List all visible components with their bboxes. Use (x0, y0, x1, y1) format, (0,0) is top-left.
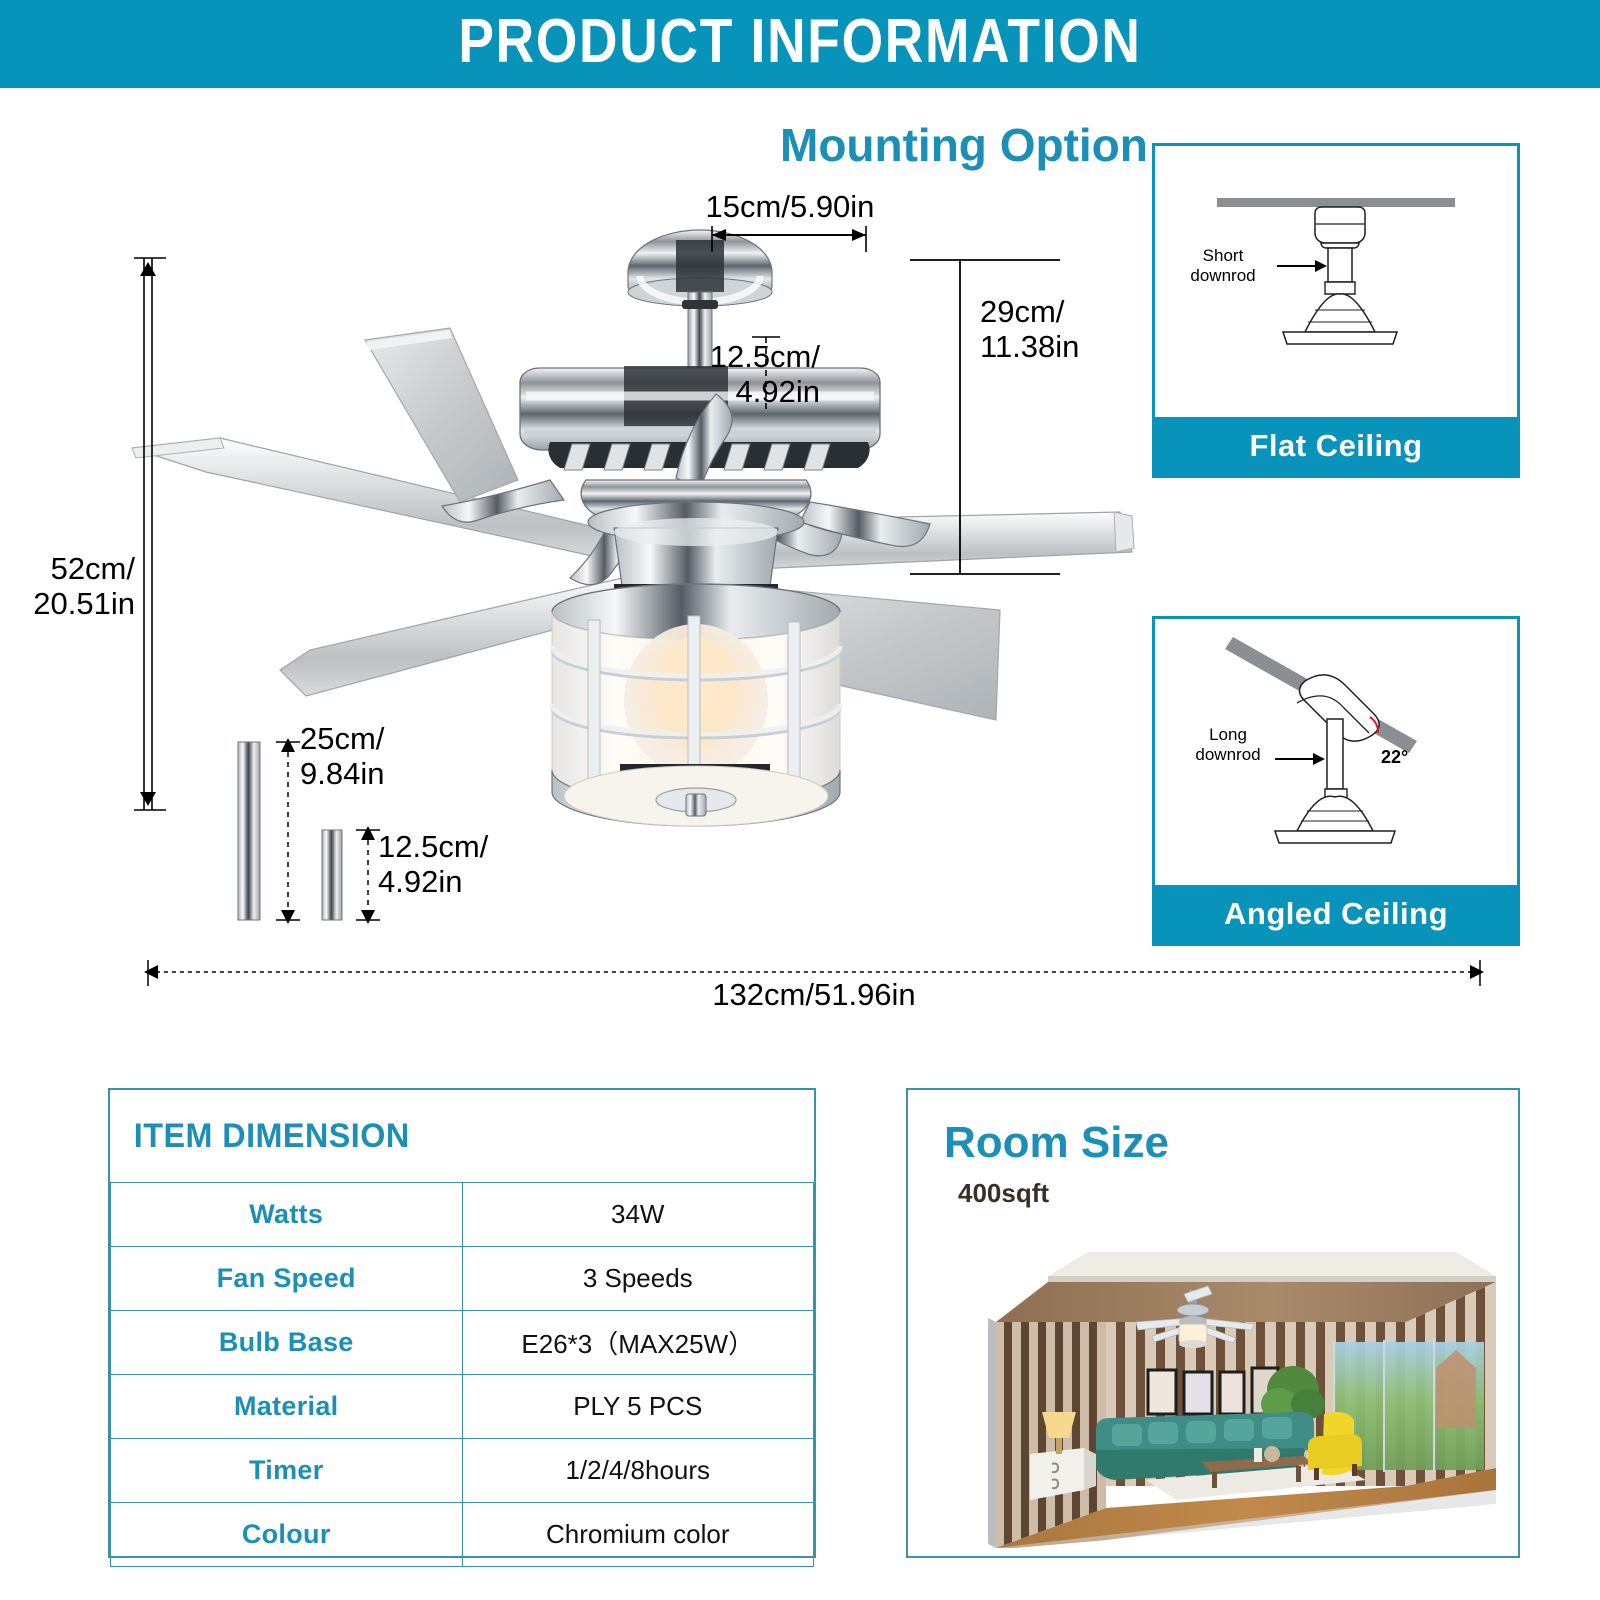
angled-rod-note-line1: Long (1209, 725, 1247, 744)
table-row: Material PLY 5 PCS (111, 1375, 814, 1439)
angled-ceiling-label: Angled Ceiling (1155, 885, 1517, 943)
room-wall-art (1148, 1368, 1278, 1414)
dim-canopy-height: 12.5cm/ 4.92in (560, 340, 820, 409)
item-dimension-table: ITEM DIMENSION Watts 34W Fan Speed 3 Spe… (108, 1088, 816, 1558)
table-row: Colour Chromium color (111, 1503, 814, 1567)
dim-downrod-short: 12.5cm/ 4.92in (378, 830, 608, 899)
row-value-bulb-base: E26*3（MAX25W） (462, 1311, 814, 1375)
row-key-timer: Timer (111, 1439, 463, 1503)
mounting-option-title: Mounting Option (780, 118, 1148, 172)
row-value-timer: 1/2/4/8hours (462, 1439, 814, 1503)
room-size-panel: Room Size 400sqft (906, 1088, 1520, 1558)
dim-canopy-width: 15cm/5.90in (650, 190, 930, 225)
room-size-title: Room Size (944, 1118, 1169, 1168)
product-information-infographic: PRODUCT INFORMATION Mounting Option (0, 0, 1600, 1600)
row-value-material: PLY 5 PCS (462, 1375, 814, 1439)
table-title-row: ITEM DIMENSION (111, 1090, 814, 1183)
angled-rod-note-line2: downrod (1195, 745, 1260, 764)
dim-blade-span: 132cm/51.96in (614, 978, 1014, 1013)
row-key-fan-speed: Fan Speed (111, 1247, 463, 1311)
flat-ceiling-label: Flat Ceiling (1155, 417, 1517, 475)
flat-rod-note-line2: downrod (1190, 266, 1255, 285)
room-vase (1264, 1446, 1280, 1462)
room-candle (1254, 1448, 1262, 1462)
table-row: Watts 34W (111, 1183, 814, 1247)
page-title: PRODUCT INFORMATION (112, 6, 1488, 77)
dim-downrod-long: 25cm/ 9.84in (300, 722, 520, 791)
table-row: Bulb Base E26*3（MAX25W） (111, 1311, 814, 1375)
row-value-watts: 34W (462, 1183, 814, 1247)
flat-rod-note-line1: Short (1203, 246, 1244, 265)
table-row: Timer 1/2/4/8hours (111, 1439, 814, 1503)
short-downrod-part (322, 830, 342, 920)
item-dimension-title: ITEM DIMENSION (111, 1117, 779, 1156)
fan-blade-top (365, 328, 518, 502)
row-value-fan-speed: 3 Speeds (462, 1247, 814, 1311)
row-key-bulb-base: Bulb Base (111, 1311, 463, 1375)
room-illustration (936, 1218, 1496, 1548)
room-ceiling-edge (1048, 1252, 1496, 1276)
fan-light-fixture (552, 584, 840, 826)
row-key-colour: Colour (111, 1503, 463, 1567)
row-key-material: Material (111, 1375, 463, 1439)
dim-total-height: 52cm/ 20.51in (0, 552, 135, 621)
ceiling-slab (1217, 198, 1455, 207)
mounting-panel-flat-ceiling[interactable]: Short downrod Flat Ceiling (1152, 143, 1520, 478)
flat-ceiling-rod-note: Short downrod (1173, 246, 1273, 286)
long-downrod-part (238, 742, 260, 920)
mounting-panel-angled-ceiling[interactable]: Long downrod 22° Angled Ceiling (1152, 616, 1520, 946)
ceiling-angle-label: 22° (1381, 747, 1408, 768)
row-key-watts: Watts (111, 1183, 463, 1247)
row-value-colour: Chromium color (462, 1503, 814, 1567)
table-row: Fan Speed 3 Speeds (111, 1247, 814, 1311)
angled-ceiling-rod-note: Long downrod (1173, 725, 1283, 765)
room-size-value: 400sqft (958, 1178, 1049, 1209)
